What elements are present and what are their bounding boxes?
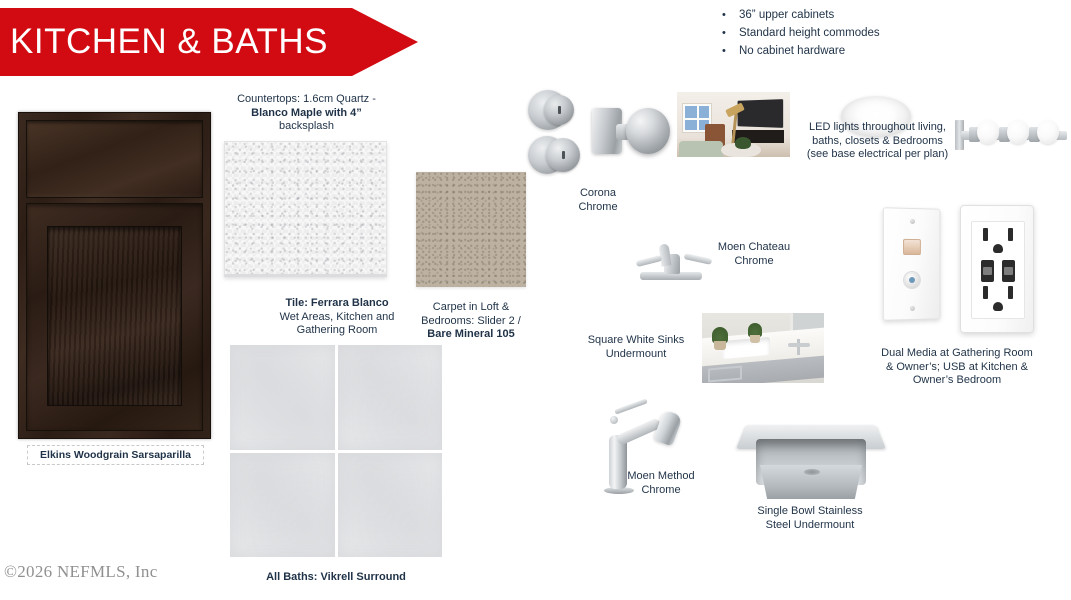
carpet-caption-line2: Bedrooms: Slider 2 /	[421, 315, 521, 327]
plate-screw	[910, 219, 915, 224]
outlet-receptacle-bottom	[978, 286, 1018, 316]
photo-sofa	[679, 141, 723, 157]
photo-planter	[714, 341, 726, 350]
door-knob-icon	[528, 132, 588, 178]
bath-sink-caption: Square White Sinks Undermount	[580, 334, 692, 361]
bath-vanity-photo	[702, 313, 824, 383]
photo-television	[738, 99, 784, 128]
quartz-swatch	[224, 141, 387, 277]
outlet-ground	[993, 244, 1003, 253]
bullet-icon: •	[722, 44, 739, 59]
coax-jack-icon	[903, 271, 921, 289]
photo-plant	[735, 137, 751, 149]
door-hardware-line2: Chrome	[578, 201, 617, 213]
bath-faucet-line1: Moen Chateau	[718, 241, 790, 253]
faucet-lever	[614, 398, 648, 414]
page-title: KITCHEN & BATHS	[0, 22, 328, 62]
knob-cylinder	[546, 138, 580, 172]
lighting-caption: LED lights throughout living, baths, clo…	[805, 121, 950, 162]
electrical-caption: Dual Media at Gathering Room & Owner’s; …	[878, 347, 1036, 388]
door-hardware-caption: Corona Chrome	[552, 187, 644, 214]
door-hardware-line1: Corona	[580, 187, 616, 199]
tile-swatch	[338, 345, 443, 450]
photo-faucet	[797, 339, 800, 355]
kitchen-sink-line1: Single Bowl Stainless	[757, 505, 862, 517]
note-text: Standard height commodes	[739, 26, 880, 41]
bath-sink-line2: Undermount	[606, 348, 667, 360]
living-room-photo	[677, 92, 790, 157]
tile-caption-line2: Wet Areas, Kitchen and	[280, 311, 395, 323]
vanity-light-bar-icon	[955, 116, 1069, 152]
surround-caption: All Baths: Vikrell Surround	[236, 571, 436, 585]
lighting-line2: baths, closets & Bedrooms	[812, 135, 943, 147]
vanity-light-bulb	[1007, 120, 1029, 144]
carpet-swatch	[416, 172, 526, 287]
bullet-icon: •	[722, 8, 739, 23]
tile-swatch	[230, 453, 335, 558]
bullet-icon: •	[722, 26, 739, 41]
tile-caption-line3: Gathering Room	[297, 324, 378, 336]
deadbolt-cylinder	[544, 95, 574, 125]
photo-faucet-spout	[788, 343, 810, 347]
carpet-caption-line1: Carpet in Loft &	[433, 301, 509, 313]
list-item: • No cabinet hardware	[722, 44, 1052, 59]
deadbolt-icon	[528, 88, 584, 132]
cabinet-label: Elkins Woodgrain Sarsaparilla	[40, 449, 191, 461]
vanity-light-bulb	[977, 120, 999, 144]
kitchen-sink-caption: Single Bowl Stainless Steel Undermount	[745, 505, 875, 532]
cabinet-door-panel	[47, 226, 182, 406]
tile-caption-line1: Tile: Ferrara Blanco	[285, 297, 388, 309]
plate-screw	[910, 306, 915, 311]
electrical-line1: Dual Media at Gathering Room	[881, 347, 1033, 359]
keyhole-icon	[558, 106, 561, 114]
door-knob-large-icon	[592, 100, 670, 162]
kitchen-faucet-line1: Moen Method	[627, 470, 694, 482]
kitchen-faucet-line2: Chrome	[641, 484, 680, 496]
notes-list: • 36” upper cabinets • Standard height c…	[722, 8, 1052, 62]
carpet-caption-line3: Bare Mineral 105	[427, 328, 514, 340]
outlet-receptacle-top	[978, 228, 1018, 258]
page-banner: KITCHEN & BATHS	[0, 8, 418, 76]
electrical-line3: Owner’s Bedroom	[913, 374, 1001, 386]
copyright-watermark: ©2026 NEFMLS, Inc	[4, 562, 158, 582]
countertop-caption-line3: backsplash	[279, 120, 334, 132]
sink-drain	[804, 469, 820, 475]
kitchen-sink-icon	[746, 425, 876, 505]
faucet-sprayer-head	[653, 410, 683, 447]
tile-swatch-grid	[230, 345, 442, 557]
selection-sheet-page: KITCHEN & BATHS • 36” upper cabinets • S…	[0, 0, 1071, 600]
electrical-line2: & Owner’s; USB at Kitchen &	[886, 361, 1028, 373]
surround-label: All Baths: Vikrell Surround	[266, 571, 406, 583]
tile-swatch	[230, 345, 335, 450]
outlet-slot	[1008, 228, 1013, 241]
outlet-slot	[983, 286, 988, 299]
usb-port-icon	[981, 260, 994, 282]
faucet-lever-pivot	[610, 416, 618, 424]
cabinet-door-sample	[18, 112, 211, 439]
bath-faucet-icon	[630, 236, 716, 280]
photo-planter	[750, 335, 760, 343]
outlet-slot	[1008, 286, 1013, 299]
countertop-caption-line1: Countertops: 1.6cm Quartz -	[237, 93, 376, 105]
outlet-ground	[993, 302, 1003, 311]
keyhole-icon	[562, 151, 565, 159]
countertop-caption: Countertops: 1.6cm Quartz - Blanco Maple…	[224, 93, 389, 134]
lighting-line3: (see base electrical per plan)	[807, 148, 948, 160]
phone-jack-icon	[903, 239, 921, 255]
note-text: No cabinet hardware	[739, 44, 845, 59]
note-text: 36” upper cabinets	[739, 8, 834, 23]
tile-swatch	[338, 453, 443, 558]
tile-caption: Tile: Ferrara Blanco Wet Areas, Kitchen …	[252, 297, 422, 338]
outlet-face	[971, 221, 1025, 319]
media-wall-plate-icon	[883, 207, 941, 321]
cabinet-drawer-front	[26, 120, 203, 198]
vanity-light-bulb	[1037, 120, 1059, 144]
lighting-line1: LED lights throughout living,	[809, 121, 946, 133]
outlet-slot	[983, 228, 988, 241]
bath-faucet-line2: Chrome	[734, 255, 773, 267]
bath-sink-line1: Square White Sinks	[588, 334, 685, 346]
faucet-handle-left	[636, 255, 663, 267]
carpet-caption: Carpet in Loft & Bedrooms: Slider 2 / Ba…	[411, 301, 531, 342]
usb-port-icon	[1002, 260, 1015, 282]
photo-cabinet-panel	[708, 366, 742, 383]
knob-ball	[626, 108, 670, 154]
kitchen-faucet-caption: Moen Method Chrome	[596, 470, 726, 497]
list-item: • 36” upper cabinets	[722, 8, 1052, 23]
cabinet-door-frame	[26, 203, 203, 431]
kitchen-sink-line2: Steel Undermount	[766, 519, 855, 531]
countertop-caption-line2: Blanco Maple with 4”	[251, 107, 362, 119]
usb-outlet-icon	[960, 205, 1034, 333]
bath-faucet-caption: Moen Chateau Chrome	[706, 241, 802, 268]
cabinet-label-box: Elkins Woodgrain Sarsaparilla	[27, 445, 204, 465]
list-item: • Standard height commodes	[722, 26, 1052, 41]
